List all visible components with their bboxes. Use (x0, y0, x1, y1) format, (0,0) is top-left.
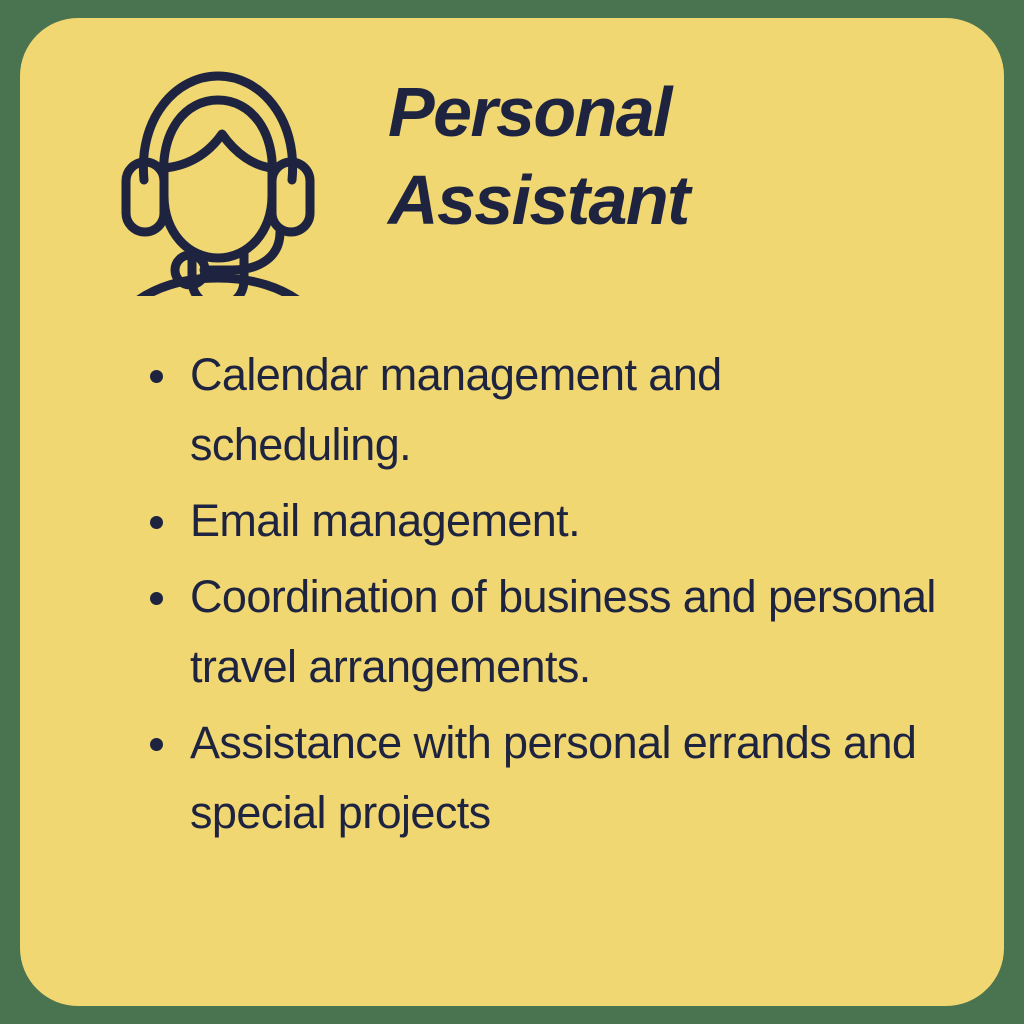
card-header: Personal Assistant (20, 18, 1004, 308)
list-item: Calendar management and scheduling. (132, 340, 952, 480)
page-title: Personal Assistant (388, 68, 988, 244)
duty-text: Assistance with personal errands and spe… (190, 708, 952, 848)
bullet-icon (150, 738, 163, 751)
bullet-icon (150, 516, 163, 529)
list-item: Coordination of business and personal tr… (132, 562, 952, 702)
page-title-line-2: Assistant (388, 156, 988, 244)
headset-support-agent-icon (92, 56, 344, 296)
duty-text: Email management. (190, 486, 952, 556)
duty-text: Calendar management and scheduling. (190, 340, 952, 480)
page-title-line-1: Personal (388, 68, 988, 156)
duty-text: Coordination of business and personal tr… (190, 562, 952, 702)
bullet-icon (150, 370, 163, 383)
bullet-icon (150, 592, 163, 605)
list-item: Assistance with personal errands and spe… (132, 708, 952, 848)
list-item: Email management. (132, 486, 952, 556)
personal-assistant-card: Personal Assistant Calendar management a… (20, 18, 1004, 1006)
page-background: Personal Assistant Calendar management a… (0, 0, 1024, 1024)
duties-list: Calendar management and scheduling. Emai… (132, 340, 952, 854)
